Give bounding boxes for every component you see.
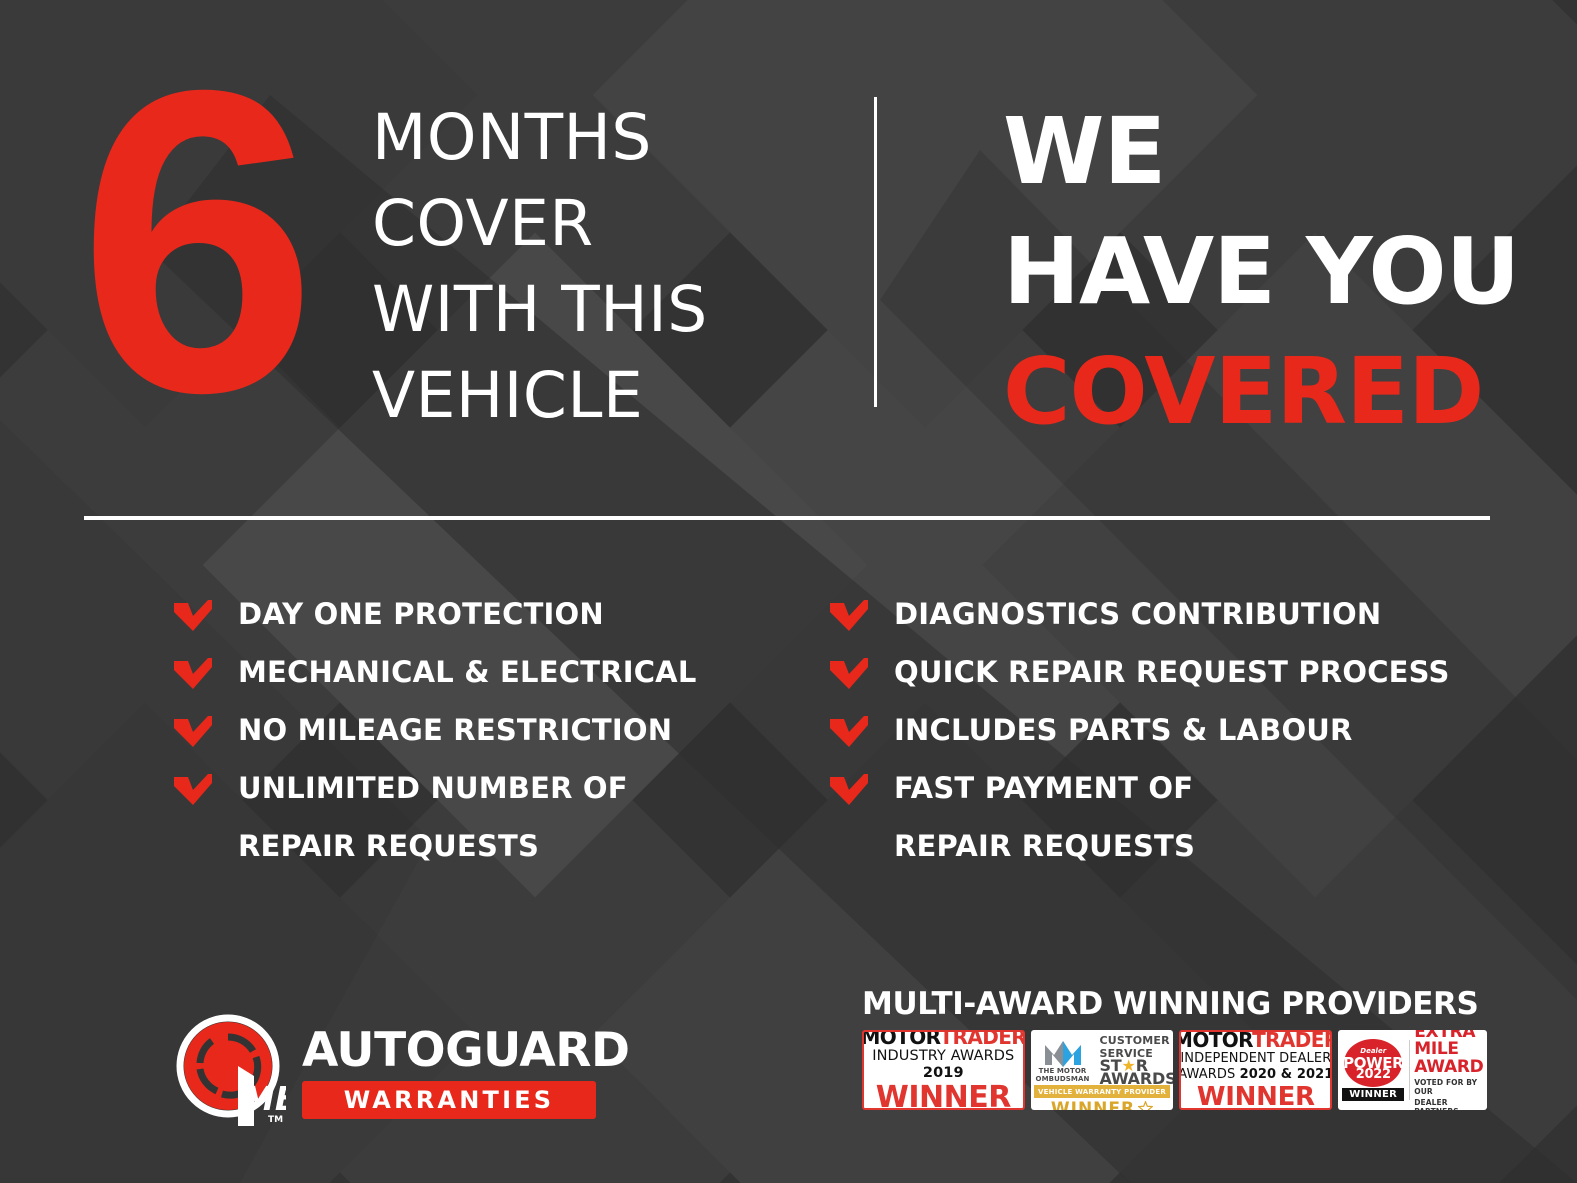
badge-category-text: VEHICLE WARRANTY PROVIDER (1038, 1088, 1166, 1096)
badge-status-row: WINNER (1034, 1098, 1171, 1110)
badge-vertical-divider (1409, 1040, 1410, 1100)
award-sub-line-1: VOTED FOR BY OUR (1414, 1078, 1484, 1096)
badge-brand-red: TRADER (940, 1030, 1025, 1049)
feature-item: MECHANICAL & ELECTRICAL (172, 653, 812, 711)
badge-subtitle: INDEPENDENT DEALER (1179, 1051, 1332, 1067)
feature-label: FAST PAYMENT OF (894, 771, 1193, 805)
award-badge-customer-service-star: THE MOTOR OMBUDSMAN CUSTOMER SERVICE ST★… (1031, 1030, 1174, 1110)
feature-item-continuation: REPAIR REQUESTS (828, 827, 1528, 885)
section-divider (84, 516, 1490, 520)
feature-label: NO MILEAGE RESTRICTION (238, 713, 672, 747)
red-check-tick-icon (172, 657, 214, 691)
feature-item: DAY ONE PROTECTION (172, 595, 812, 653)
red-check-tick-icon (828, 599, 870, 633)
power-year: 2022 (1356, 1069, 1391, 1081)
feature-label: QUICK REPAIR REQUEST PROCESS (894, 655, 1450, 689)
feature-label-continuation: REPAIR REQUESTS (238, 829, 539, 863)
badge-brand: MOTORTRADER (862, 1030, 1025, 1048)
award-sub-line-2: DEALER PARTNERS (1414, 1098, 1484, 1110)
dealer-power-seal: Dealer POWER 2022 WINNER (1341, 1039, 1405, 1101)
red-check-tick-icon (828, 657, 870, 691)
ombudsman-line-2: OMBUDSMAN (1036, 1075, 1090, 1083)
star-icon (1138, 1101, 1153, 1110)
css-line-1: CUSTOMER (1099, 1035, 1173, 1048)
red-check-tick-icon (172, 773, 214, 807)
badge-brand-red: TRADER (1252, 1030, 1332, 1052)
slogan-line-2: HAVE YOU (1003, 212, 1519, 332)
badge-awards-word: AWARDS (1179, 1067, 1235, 1082)
feature-item: QUICK REPAIR REQUEST PROCESS (828, 653, 1528, 711)
features-right-column: DIAGNOSTICS CONTRIBUTION QUICK REPAIR RE… (828, 595, 1528, 885)
cover-headline-line-1: MONTHS (372, 95, 708, 181)
features-left-column: DAY ONE PROTECTION MECHANICAL & ELECTRIC… (172, 595, 812, 885)
red-check-tick-icon (172, 715, 214, 749)
motor-ombudsman-logo: THE MOTOR OMBUDSMAN (1036, 1037, 1090, 1083)
feature-label: DAY ONE PROTECTION (238, 597, 604, 631)
badge-years-row: AWARDS 2020 & 2021 (1179, 1067, 1332, 1083)
css-line-4: AWARDS (1099, 1073, 1173, 1086)
ombudsman-line-1: THE MOTOR (1036, 1067, 1090, 1075)
brand-name: AUTOGUARD (302, 1026, 602, 1075)
awards-section: MULTI-AWARD WINNING PROVIDERS MOTORTRADE… (862, 986, 1487, 1110)
autoguard-logo: MBi TM AUTOGUARD WARRANTIES (176, 1012, 596, 1127)
badge-subtitle: INDUSTRY AWARDS 2019 (862, 1048, 1025, 1082)
feature-item: NO MILEAGE RESTRICTION (172, 711, 812, 769)
feature-item: UNLIMITED NUMBER OF (172, 769, 812, 827)
cover-headline-line-2: COVER (372, 181, 708, 267)
feature-item: FAST PAYMENT OF (828, 769, 1528, 827)
badge-brand-black: MOTOR (862, 1030, 940, 1049)
badge-brand: MOTORTRADER (1179, 1030, 1332, 1051)
extra-mile-award-text: EXTRA MILE AWARD VOTED FOR BY OUR DEALER… (1414, 1030, 1484, 1110)
sub-brand-name: WARRANTIES (344, 1086, 555, 1114)
slogan-line-3-accent: COVERED (1003, 332, 1519, 452)
mbi-logo-mark: MBi TM (176, 1014, 286, 1126)
badge-subtitle-text: INDUSTRY AWARDS (872, 1048, 1014, 1064)
feature-label: UNLIMITED NUMBER OF (238, 771, 628, 805)
badge-status: WINNER (1179, 1083, 1332, 1111)
award-badge-dealer-power-extra-mile: Dealer POWER 2022 WINNER EXTRA MILE AWAR… (1338, 1030, 1487, 1110)
svg-text:MBi: MBi (242, 1079, 286, 1118)
red-check-tick-icon (828, 715, 870, 749)
red-check-tick-icon (172, 599, 214, 633)
trademark-symbol: TM (268, 1115, 283, 1125)
ombudsman-mark-icon (1041, 1037, 1085, 1067)
feature-item-continuation: REPAIR REQUESTS (172, 827, 812, 885)
feature-item: DIAGNOSTICS CONTRIBUTION (828, 595, 1528, 653)
feature-label: DIAGNOSTICS CONTRIBUTION (894, 597, 1381, 631)
slogan-line-1: WE (1003, 92, 1519, 212)
sub-brand-bar: WARRANTIES (302, 1081, 596, 1119)
cover-headline-line-3: WITH THIS (372, 267, 708, 353)
dealer-power-circle: Dealer POWER 2022 (1344, 1039, 1402, 1087)
badge-years: 2020 & 2021 (1240, 1067, 1333, 1082)
badge-brand-black: MOTOR (1179, 1030, 1252, 1052)
award-line-3: AWARD (1414, 1059, 1484, 1077)
feature-item: INCLUDES PARTS & LABOUR (828, 711, 1528, 769)
badge-status: WINNER (1342, 1088, 1404, 1101)
badge-year: 2019 (923, 1065, 964, 1081)
award-badge-motortrader-2019: MOTORTRADER INDUSTRY AWARDS 2019 WINNER (862, 1030, 1025, 1110)
feature-label-continuation: REPAIR REQUESTS (894, 829, 1195, 863)
badge-status: WINNER (862, 1082, 1025, 1110)
red-check-tick-icon (828, 773, 870, 807)
hero-vertical-divider (874, 97, 877, 407)
autoguard-wordmark: AUTOGUARD WARRANTIES (302, 1026, 602, 1119)
feature-label: INCLUDES PARTS & LABOUR (894, 713, 1353, 747)
hero-section: 6 MONTHS COVER WITH THIS VEHICLE WE HAVE… (0, 0, 1577, 470)
customer-service-star-awards-logo: CUSTOMER SERVICE ST★R AWARDS (1099, 1035, 1173, 1085)
feature-label: MECHANICAL & ELECTRICAL (238, 655, 697, 689)
award-badge-row: MOTORTRADER INDUSTRY AWARDS 2019 WINNER (862, 1030, 1487, 1110)
badge-status: WINNER (1051, 1099, 1135, 1111)
slogan: WE HAVE YOU COVERED (1003, 92, 1519, 452)
badge-category-band: VEHICLE WARRANTY PROVIDER (1034, 1085, 1171, 1098)
awards-title: MULTI-AWARD WINNING PROVIDERS (862, 986, 1487, 1022)
award-badge-independent-dealer: MOTORTRADER INDEPENDENT DEALER AWARDS 20… (1179, 1030, 1332, 1110)
cover-headline-line-4: VEHICLE (372, 353, 708, 439)
cover-headline: MONTHS COVER WITH THIS VEHICLE (372, 95, 708, 439)
cover-duration-number: 6 (78, 52, 311, 432)
